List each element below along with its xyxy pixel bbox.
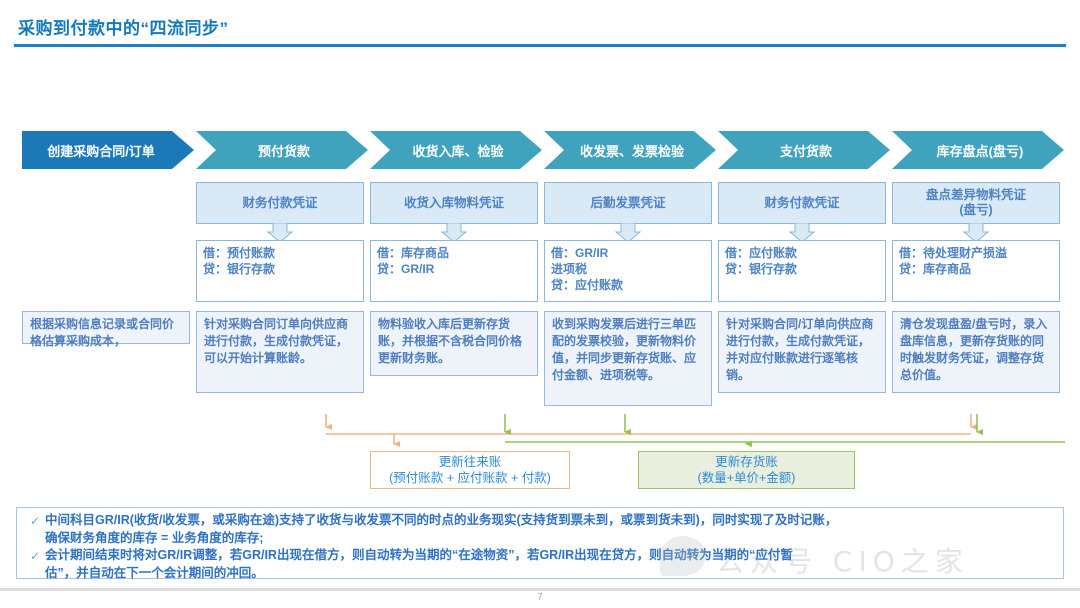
check-icon-placeholder bbox=[25, 565, 45, 566]
voucher-label-line1: 后勤发票凭证 bbox=[590, 196, 665, 211]
description-box-4[interactable]: 收到采购发票后进行三单匹配的发票校验，更新物料价值，并同步更新存货账、应付金额、… bbox=[544, 311, 712, 406]
process-step-3[interactable]: 收货入库、检验 bbox=[370, 131, 542, 169]
process-step-2[interactable]: 预付货款 bbox=[196, 131, 368, 169]
page-title: 采购到付款中的“四流同步” bbox=[18, 14, 229, 39]
check-icon: ✓ bbox=[25, 512, 45, 530]
process-step-label: 收发票、发票检验 bbox=[580, 141, 684, 160]
summary-box-inventory[interactable]: 更新存货账 (数量+单价+金额) bbox=[638, 451, 855, 489]
check-icon: ✓ bbox=[25, 547, 45, 565]
description-box-6[interactable]: 清仓发现盘盈/盘亏时，录入盘库信息，更新存货账的同时触发财务凭证，调整存货总价值… bbox=[892, 311, 1060, 393]
title-divider bbox=[14, 44, 1066, 47]
process-step-6[interactable]: 库存盘点(盘亏) bbox=[892, 131, 1064, 169]
process-step-1[interactable]: 创建采购合同/订单 bbox=[22, 131, 194, 169]
footnote-item: 确保财务角度的库存 = 业务角度的库存; bbox=[25, 530, 1057, 547]
voucher-box-4[interactable]: 财务付款凭证 bbox=[718, 182, 886, 224]
voucher-label-line2: (盘亏) bbox=[959, 203, 992, 218]
journal-entry-box-5[interactable]: 借：待处理财产损溢 贷：库存商品 bbox=[892, 240, 1060, 302]
footnote-text: 确保财务角度的库存 = 业务角度的库存; bbox=[45, 530, 263, 547]
summary-box-receivable-payable[interactable]: 更新往来账 (预付账款 + 应付账款 + 付款) bbox=[370, 451, 570, 489]
summary-detail: (数量+单价+金额) bbox=[698, 470, 796, 486]
footnote-text: 中间科目GR/IR(收货/收发票，或采购在途)支持了收货与收发票不同的时点的业务… bbox=[45, 512, 837, 529]
journal-entry-box-2[interactable]: 借：库存商品 贷：GR/IR bbox=[370, 240, 538, 302]
voucher-label-line1: 财务付款凭证 bbox=[764, 196, 839, 211]
description-box-5[interactable]: 针对采购合同/订单向供应商进行付款，生成付款凭证，并对应付账款进行逐笔核销。 bbox=[718, 311, 886, 393]
description-box-3[interactable]: 物料验收入库后更新存货账，并根据不含税合同价格更新财务账。 bbox=[370, 311, 538, 376]
summary-detail: (预付账款 + 应付账款 + 付款) bbox=[389, 470, 551, 486]
footnote-text: 估”，并自动在下一个会计期间的冲回。 bbox=[45, 565, 264, 582]
voucher-box-1[interactable]: 财务付款凭证 bbox=[196, 182, 364, 224]
journal-entry-box-4[interactable]: 借：应付账款 贷：银行存款 bbox=[718, 240, 886, 302]
check-icon-placeholder bbox=[25, 530, 45, 531]
footnote-item: ✓ 会计期间结束时将对GR/IR调整，若GR/IR出现在借方，则自动转为当期的“… bbox=[25, 547, 1057, 565]
footnote-panel: ✓ 中间科目GR/IR(收货/收发票，或采购在途)支持了收货与收发票不同的时点的… bbox=[16, 507, 1064, 579]
description-box-1[interactable]: 根据采购信息记录或合同价格估算采购成本， bbox=[22, 311, 190, 344]
voucher-box-3[interactable]: 后勤发票凭证 bbox=[544, 182, 712, 224]
footnote-item: 估”，并自动在下一个会计期间的冲回。 bbox=[25, 565, 1057, 582]
process-step-label: 预付货款 bbox=[258, 141, 310, 160]
process-step-label: 库存盘点(盘亏) bbox=[937, 141, 1024, 160]
footnote-item: ✓ 中间科目GR/IR(收货/收发票，或采购在途)支持了收货与收发票不同的时点的… bbox=[25, 512, 1057, 530]
process-step-label: 创建采购合同/订单 bbox=[47, 141, 155, 160]
voucher-label-line1: 盘点差异物料凭证 bbox=[926, 188, 1026, 203]
summary-title: 更新往来账 bbox=[439, 454, 502, 470]
page-number: 7 bbox=[0, 592, 1080, 603]
journal-entry-box-3[interactable]: 借：GR/IR 进项税 贷：应付账款 bbox=[544, 240, 712, 302]
process-step-label: 支付货款 bbox=[780, 141, 832, 160]
footnote-text: 会计期间结束时将对GR/IR调整，若GR/IR出现在借方，则自动转为当期的“在途… bbox=[45, 547, 793, 564]
voucher-box-2[interactable]: 收货入库物料凭证 bbox=[370, 182, 538, 224]
summary-title: 更新存货账 bbox=[715, 454, 778, 470]
process-step-4[interactable]: 收发票、发票检验 bbox=[544, 131, 716, 169]
voucher-label-line1: 收货入库物料凭证 bbox=[404, 196, 504, 211]
footer-divider bbox=[0, 588, 1080, 591]
journal-entry-box-1[interactable]: 借：预付账款 贷：银行存款 bbox=[196, 240, 364, 302]
description-box-2[interactable]: 针对采购合同订单向供应商进行付款，生成付款凭证，可以开始计算账龄。 bbox=[196, 311, 364, 393]
voucher-box-5[interactable]: 盘点差异物料凭证 (盘亏) bbox=[892, 182, 1060, 224]
voucher-label-line1: 财务付款凭证 bbox=[242, 196, 317, 211]
process-step-label: 收货入库、检验 bbox=[412, 141, 503, 160]
slide-header: 采购到付款中的“四流同步” bbox=[0, 8, 1080, 46]
process-step-5[interactable]: 支付货款 bbox=[718, 131, 890, 169]
